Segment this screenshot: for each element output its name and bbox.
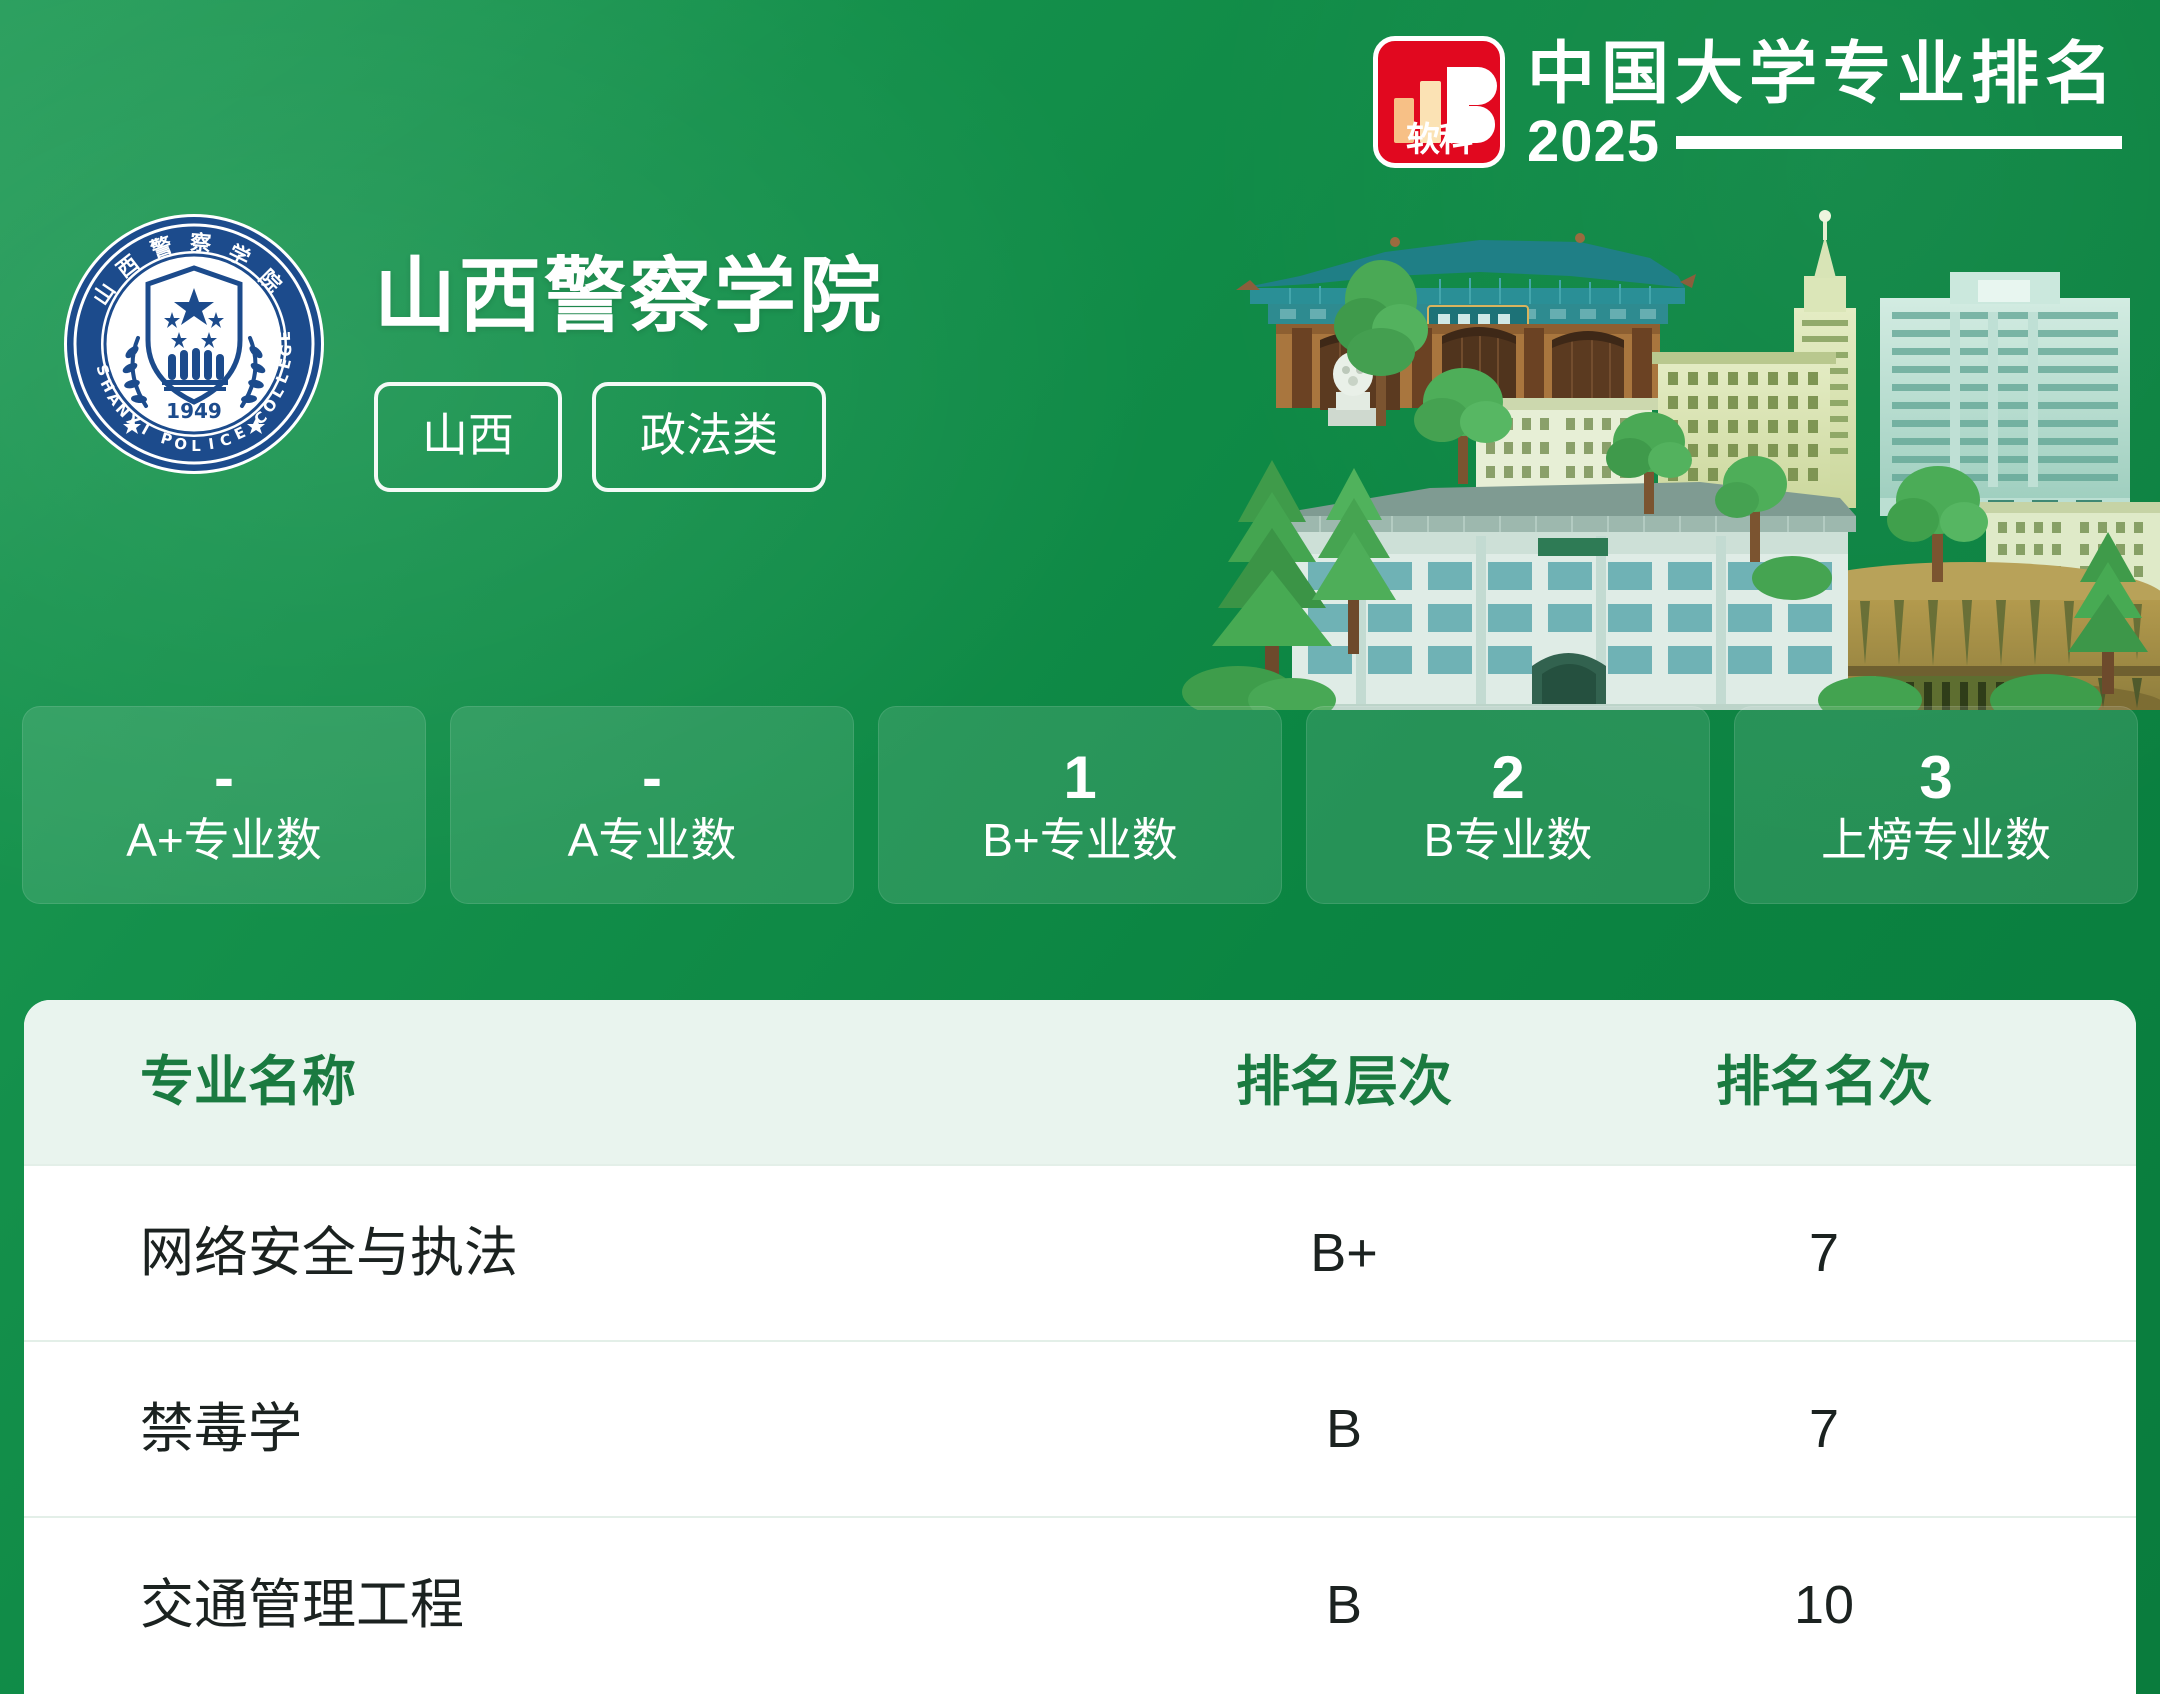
table-row: 交通管理工程 B 10	[24, 1516, 2136, 1692]
stat-card-total: 3 上榜专业数	[1734, 706, 2138, 904]
svg-text:L: L	[191, 437, 201, 455]
cell-rank-tier: B+	[1104, 1226, 1584, 1280]
round-arena-building	[1774, 562, 2160, 710]
tag-province[interactable]: 山西	[374, 382, 562, 492]
svg-text:O: O	[173, 434, 188, 454]
title-rule	[1676, 136, 2122, 149]
university-tags: 山西 政法类	[374, 382, 884, 492]
shanxi-police-college-seal-icon: 山 西 警 察 学 院 S H A N X I P O L	[62, 212, 326, 476]
stat-card-row: - A+专业数 - A专业数 1 B+专业数 2 B专业数 3 上榜专业数	[22, 706, 2138, 904]
stat-label: B专业数	[1424, 817, 1593, 863]
ranking-year: 2025	[1527, 113, 1660, 171]
stat-card-a: - A专业数	[450, 706, 854, 904]
stat-card-a-plus: - A+专业数	[22, 706, 426, 904]
ranking-brand: 软科 中国大学专业排名 2025	[1373, 36, 2122, 171]
university-header: 山 西 警 察 学 院 S H A N X I P O L	[62, 212, 884, 492]
stat-label: B+专业数	[982, 817, 1178, 863]
table-row: 网络安全与执法 B+ 7	[24, 1164, 2136, 1340]
table-row: 禁毒学 B 7	[24, 1340, 2136, 1516]
stat-label: A专业数	[568, 817, 737, 863]
main-hall-building	[1284, 482, 1856, 710]
svg-text:察: 察	[189, 230, 213, 256]
cell-rank-position: 10	[1584, 1578, 2064, 1632]
stat-label: A+专业数	[126, 817, 322, 863]
table-header-row: 专业名称 排名层次 排名名次	[24, 1000, 2136, 1164]
highrise-building	[1880, 272, 2130, 516]
logo-wordmark: 软科	[1378, 123, 1500, 157]
ranking-title: 中国大学专业排名	[1527, 40, 2122, 109]
stat-card-b-plus: 1 B+专业数	[878, 706, 1282, 904]
majors-table-card: 专业名称 排名层次 排名名次 网络安全与执法 B+ 7 禁毒学 B 7 交通管理…	[24, 1000, 2136, 1694]
tree-group	[1182, 260, 2148, 710]
cell-major-name: 禁毒学	[24, 1402, 1104, 1456]
cell-rank-tier: B	[1104, 1578, 1584, 1632]
stat-value: -	[214, 747, 234, 809]
svg-text:G: G	[276, 343, 295, 357]
cell-major-name: 交通管理工程	[24, 1578, 1104, 1632]
stat-value: 3	[1919, 747, 1952, 809]
ranking-card-page: 软科 中国大学专业排名 2025 山 西 警	[0, 0, 2160, 1694]
column-header-major-name: 专业名称	[24, 1055, 1104, 1109]
seal-year: 1949	[166, 399, 222, 423]
midground-building-b	[1470, 398, 1658, 518]
traditional-gate-building	[1236, 233, 1696, 410]
stat-card-b: 2 B专业数	[1306, 706, 1710, 904]
tag-category[interactable]: 政法类	[592, 382, 826, 492]
university-name: 山西警察学院	[374, 256, 884, 338]
stat-value: 2	[1491, 747, 1524, 809]
cell-rank-position: 7	[1584, 1402, 2064, 1456]
cell-major-name: 网络安全与执法	[24, 1226, 1104, 1280]
campus-illustration	[1180, 180, 2160, 710]
stat-value: -	[642, 747, 662, 809]
midground-building-a	[1652, 352, 1836, 510]
stone-lion-statue	[1328, 352, 1378, 426]
cell-rank-position: 7	[1584, 1226, 2064, 1280]
stat-label: 上榜专业数	[1821, 817, 2051, 863]
column-header-rank-position: 排名名次	[1584, 1055, 2064, 1109]
midground-building-c	[1980, 502, 2160, 594]
shanghairanking-logo-icon: 软科	[1373, 36, 1505, 168]
svg-text:E: E	[276, 331, 294, 342]
stat-value: 1	[1063, 747, 1096, 809]
cell-rank-tier: B	[1104, 1402, 1584, 1456]
column-header-rank-tier: 排名层次	[1104, 1055, 1584, 1109]
spire-tower	[1794, 210, 1856, 508]
